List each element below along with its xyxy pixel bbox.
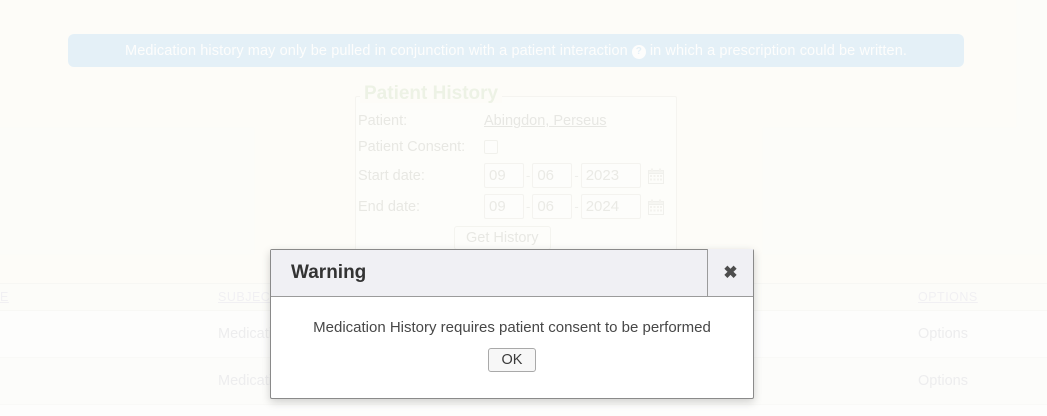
end-date-separator-1: - xyxy=(524,199,532,214)
warning-dialog: Warning ✖ Medication History requires pa… xyxy=(270,249,754,399)
upper-pane: Medication history may only be pulled in… xyxy=(0,0,1047,283)
warning-dialog-body: Medication History requires patient cons… xyxy=(271,297,753,372)
end-date-year-input[interactable] xyxy=(581,194,641,219)
patient-history-form: Patient: Abingdon, Perseus Patient Conse… xyxy=(358,108,674,253)
end-date-separator-2: - xyxy=(572,199,580,214)
warning-dialog-header: Warning ✖ xyxy=(271,250,753,297)
medication-history-notice-banner: Medication history may only be pulled in… xyxy=(68,34,964,67)
start-date-year-input[interactable] xyxy=(581,163,641,188)
column-header-options[interactable]: OPTIONS xyxy=(890,284,1047,310)
patient-consent-label: Patient Consent: xyxy=(358,139,484,155)
start-date-day-input[interactable] xyxy=(532,163,572,188)
cell-date xyxy=(0,357,108,404)
cell-date xyxy=(0,310,108,357)
row-options-link[interactable]: Options xyxy=(890,357,1047,404)
banner-text-before: Medication history may only be pulled in… xyxy=(125,43,628,59)
patient-consent-row: Patient Consent: xyxy=(358,134,674,160)
calendar-icon[interactable] xyxy=(648,199,664,215)
start-date-month-input[interactable] xyxy=(484,163,524,188)
ok-button[interactable]: OK xyxy=(488,348,537,372)
end-date-month-input[interactable] xyxy=(484,194,524,219)
patient-name-link[interactable]: Abingdon, Perseus xyxy=(484,113,607,129)
warning-dialog-message: Medication History requires patient cons… xyxy=(271,319,753,336)
start-date-separator-2: - xyxy=(572,168,580,183)
patient-consent-checkbox[interactable] xyxy=(484,140,498,154)
get-history-button[interactable]: Get History xyxy=(454,226,551,250)
column-header-date[interactable]: E xyxy=(0,284,108,310)
start-date-label: Start date: xyxy=(358,168,484,184)
end-date-label: End date: xyxy=(358,199,484,215)
end-date-row: End date: - - xyxy=(358,191,674,222)
patient-row: Patient: Abingdon, Perseus xyxy=(358,108,674,134)
start-date-row: Start date: - - xyxy=(358,160,674,191)
question-mark-circle-icon[interactable]: ? xyxy=(632,45,646,59)
patient-label: Patient: xyxy=(358,113,484,129)
end-date-day-input[interactable] xyxy=(532,194,572,219)
banner-text-after: in which a prescription could be written… xyxy=(650,43,907,59)
patient-history-legend: Patient History xyxy=(360,84,502,103)
calendar-icon[interactable] xyxy=(648,168,664,184)
start-date-separator-1: - xyxy=(524,168,532,183)
row-options-link[interactable]: Options xyxy=(890,310,1047,357)
close-icon[interactable]: ✖ xyxy=(707,249,753,296)
warning-dialog-title: Warning xyxy=(271,262,707,284)
